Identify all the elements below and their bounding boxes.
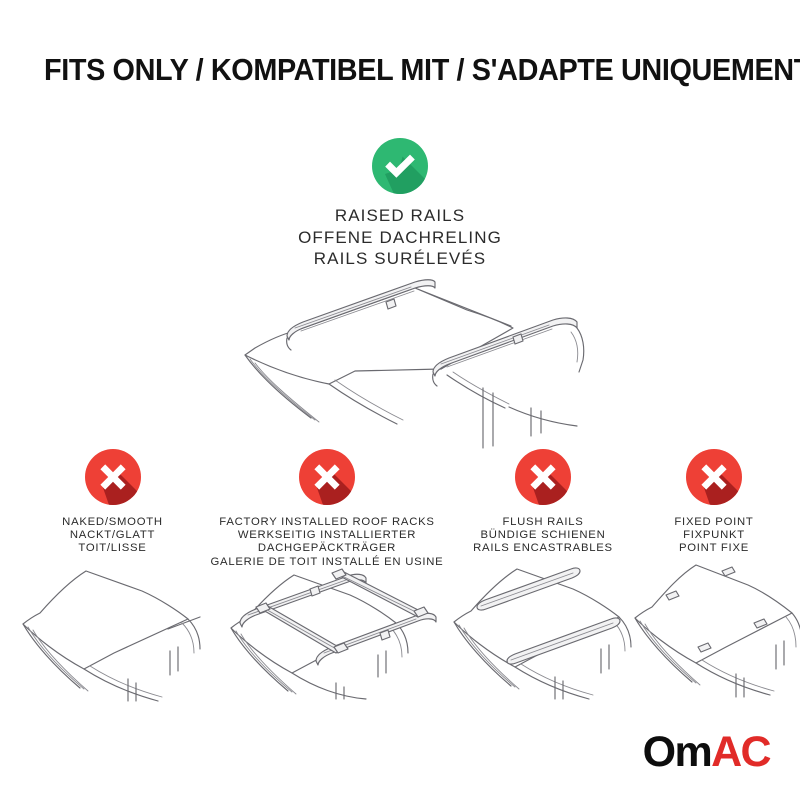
x-circle-icon <box>686 449 742 505</box>
logo-text-dark: Om <box>643 728 711 776</box>
check-mark-glyph <box>372 138 428 194</box>
car-roof-factory-rack-illustration <box>196 549 458 699</box>
x-mark-glyph <box>85 449 141 505</box>
option-label-naked-smooth: NAKED/SMOOTH NACKT/GLATT TOIT/LISSE <box>10 516 215 556</box>
option-label-line: FLUSH RAILS <box>443 516 643 529</box>
option-label-flush-rails: FLUSH RAILS BÜNDIGE SCHIENEN RAILS ENCAS… <box>443 516 643 556</box>
rejected-option-flush-rails: FLUSH RAILS BÜNDIGE SCHIENEN RAILS ENCAS… <box>443 449 643 556</box>
car-roof-flush-rails-illustration <box>443 559 643 699</box>
page-title: FITS ONLY / KOMPATIBEL MIT / S'ADAPTE UN… <box>44 53 743 87</box>
approved-label-line-2: OFFENE DACHRELING <box>0 227 800 249</box>
option-label-line: FIXPUNKT <box>626 529 800 542</box>
logo-text-red: AC <box>711 728 770 776</box>
x-circle-icon <box>85 449 141 505</box>
option-label-line: NACKT/GLATT <box>10 529 215 542</box>
approved-label-line-1: RAISED RAILS <box>0 205 800 227</box>
option-label-line: RAILS ENCASTRABLES <box>443 542 643 555</box>
x-mark-glyph <box>515 449 571 505</box>
rejected-option-factory-roof-racks: FACTORY INSTALLED ROOF RACKS WERKSEITIG … <box>196 449 458 569</box>
car-roof-raised-rails-illustration <box>183 276 623 452</box>
badge-wrapper-factory <box>196 449 458 507</box>
omac-logo: OmAC <box>643 730 770 774</box>
approved-option-raised-rails: RAISED RAILS OFFENE DACHRELING RAILS SUR… <box>0 138 800 270</box>
option-label-line: WERKSEITIG INSTALLIERTER <box>196 529 458 542</box>
badge-wrapper-fixed <box>626 449 800 507</box>
approved-label: RAISED RAILS OFFENE DACHRELING RAILS SUR… <box>0 205 800 270</box>
check-circle-icon <box>372 138 428 194</box>
car-roof-fixed-point-illustration <box>626 549 800 697</box>
badge-wrapper-flush <box>443 449 643 507</box>
option-label-line: FACTORY INSTALLED ROOF RACKS <box>196 516 458 529</box>
option-label-line: TOIT/LISSE <box>10 542 215 555</box>
rejected-option-naked-smooth: NAKED/SMOOTH NACKT/GLATT TOIT/LISSE <box>10 449 215 556</box>
option-label-line: FIXED POINT <box>626 516 800 529</box>
x-circle-icon <box>515 449 571 505</box>
x-mark-glyph <box>299 449 355 505</box>
rejected-option-fixed-point: FIXED POINT FIXPUNKT POINT FIXE <box>626 449 800 556</box>
car-roof-naked-illustration <box>10 561 215 701</box>
x-mark-glyph <box>686 449 742 505</box>
option-label-line: BÜNDIGE SCHIENEN <box>443 529 643 542</box>
badge-wrapper-naked <box>10 449 215 507</box>
option-label-line: NAKED/SMOOTH <box>10 516 215 529</box>
approved-label-line-3: RAILS SURÉLEVÉS <box>0 248 800 270</box>
x-circle-icon <box>299 449 355 505</box>
